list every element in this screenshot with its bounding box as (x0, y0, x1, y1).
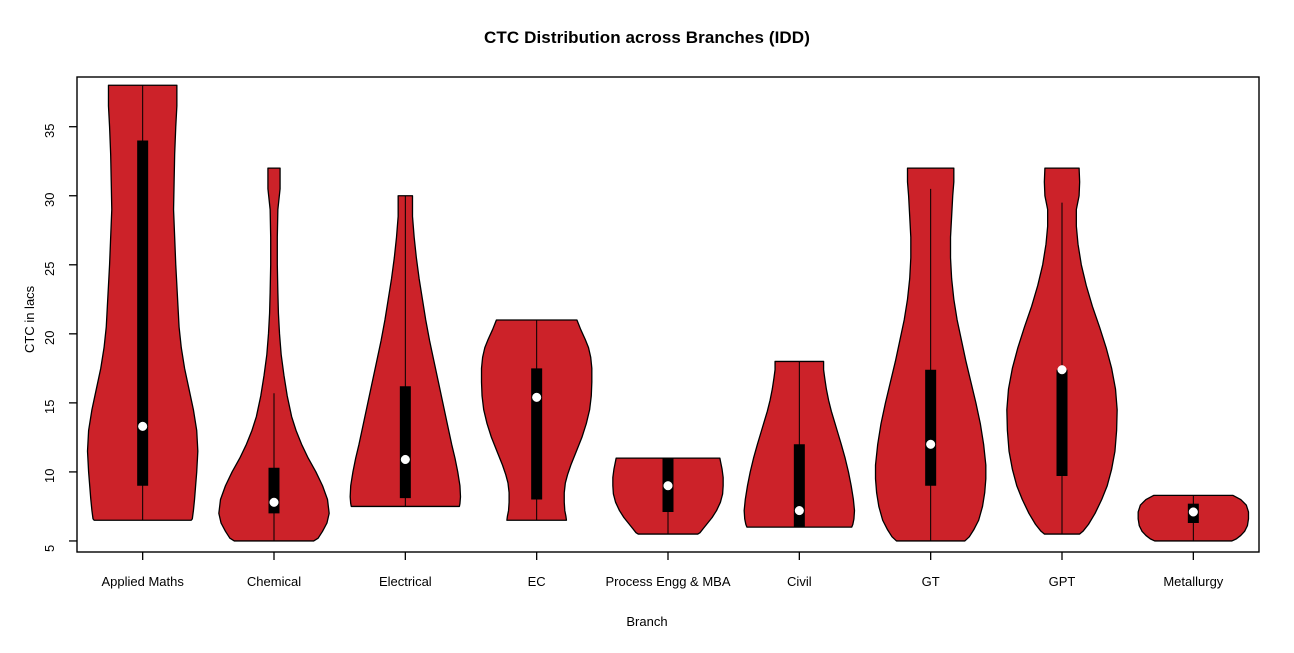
violin-plot-figure: CTC Distribution across Branches (IDD) C… (0, 0, 1294, 653)
y-tick-label: 20 (42, 330, 57, 344)
y-tick-label: 35 (42, 123, 57, 137)
violin-applied-maths (88, 85, 198, 520)
violin-metallurgy (1138, 495, 1248, 541)
violin-electrical (350, 196, 460, 507)
violin-process-engg-mba (613, 458, 723, 534)
violin-gpt (1007, 168, 1117, 534)
y-tick-label: 25 (42, 261, 57, 275)
x-tick-label-ec: EC (528, 574, 546, 589)
x-tick-label-gt: GT (922, 574, 940, 589)
y-tick-label: 30 (42, 192, 57, 206)
x-tick-label-gpt: GPT (1049, 574, 1076, 589)
x-tick-label-chemical: Chemical (247, 574, 301, 589)
x-tick-label-metallurgy: Metallurgy (1163, 574, 1223, 589)
plot-canvas (0, 0, 1294, 653)
violin-ec (482, 320, 592, 520)
y-tick-label: 5 (42, 545, 57, 552)
violin-chemical (219, 168, 329, 541)
violin-civil (744, 361, 854, 527)
x-tick-label-process-engg-mba: Process Engg & MBA (606, 574, 731, 589)
x-tick-label-applied-maths: Applied Maths (101, 574, 183, 589)
x-tick-label-civil: Civil (787, 574, 812, 589)
x-tick-label-electrical: Electrical (379, 574, 432, 589)
y-tick-label: 10 (42, 468, 57, 482)
violin-gt (876, 168, 986, 541)
y-tick-label: 15 (42, 399, 57, 413)
